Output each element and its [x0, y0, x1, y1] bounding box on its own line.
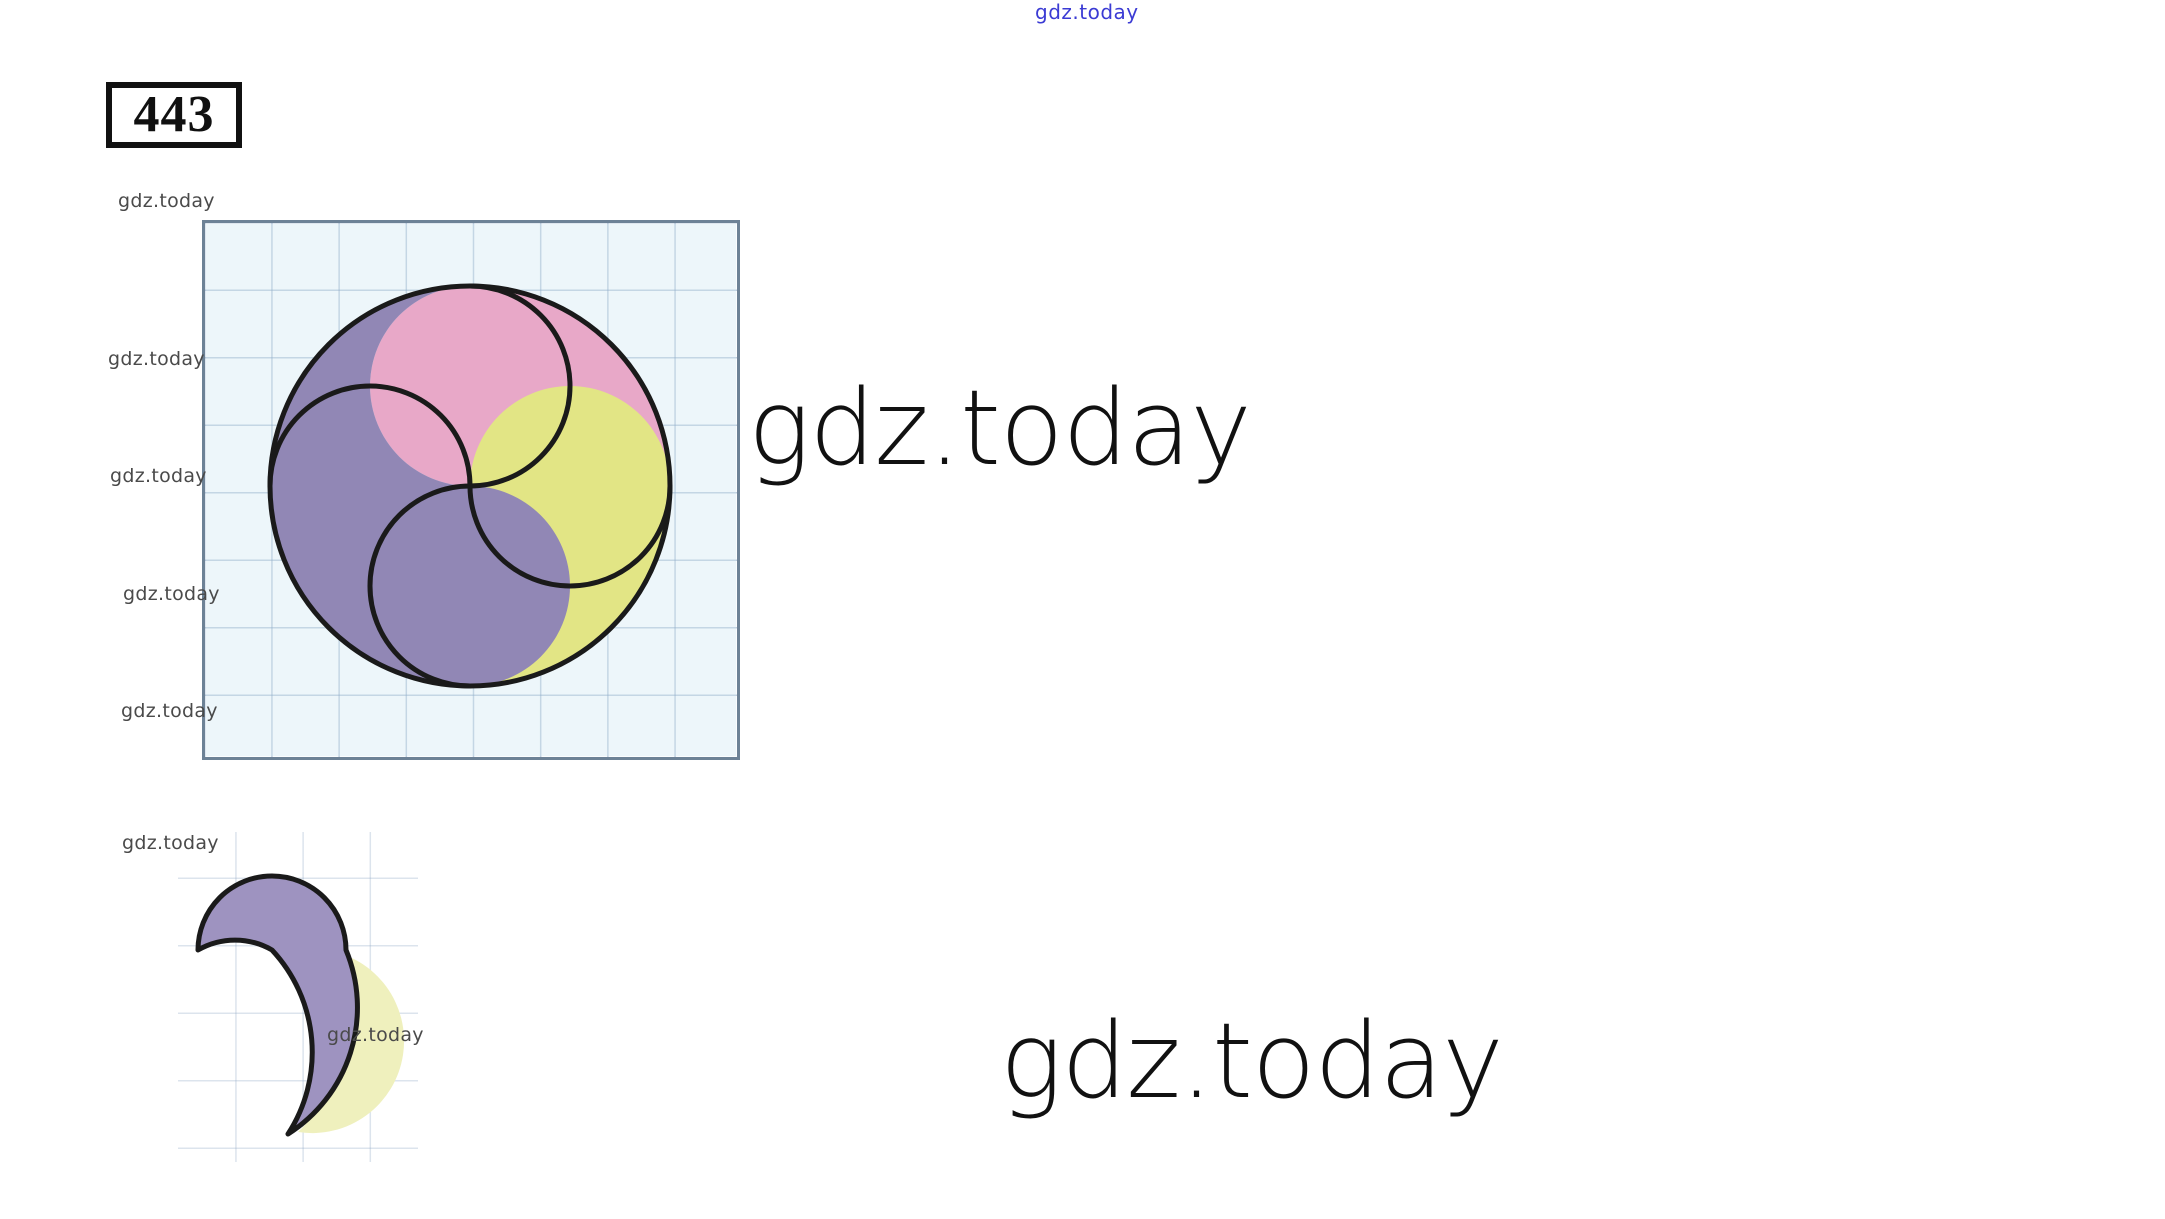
- exercise-number: 443: [134, 89, 215, 141]
- figure-detail-comma: [178, 832, 418, 1162]
- watermark-large-2: gdz.today: [1000, 1000, 1503, 1122]
- watermark-top: gdz.today: [1035, 0, 1139, 24]
- watermark-small-7: gdz.today: [327, 1024, 424, 1046]
- watermark-small-2: gdz.today: [108, 348, 205, 370]
- comma-svg: [178, 832, 418, 1162]
- page-canvas: gdz.today 443: [0, 0, 2165, 1219]
- watermark-small-6: gdz.today: [122, 832, 219, 854]
- rosette-svg: [202, 220, 740, 760]
- watermark-small-4: gdz.today: [123, 583, 220, 605]
- watermark-small-3: gdz.today: [110, 465, 207, 487]
- watermark-small-5: gdz.today: [121, 700, 218, 722]
- exercise-number-box: 443: [106, 82, 242, 148]
- watermark-small-1: gdz.today: [118, 190, 215, 212]
- watermark-large-1: gdz.today: [748, 367, 1251, 489]
- figure-main-rosette: [202, 220, 740, 760]
